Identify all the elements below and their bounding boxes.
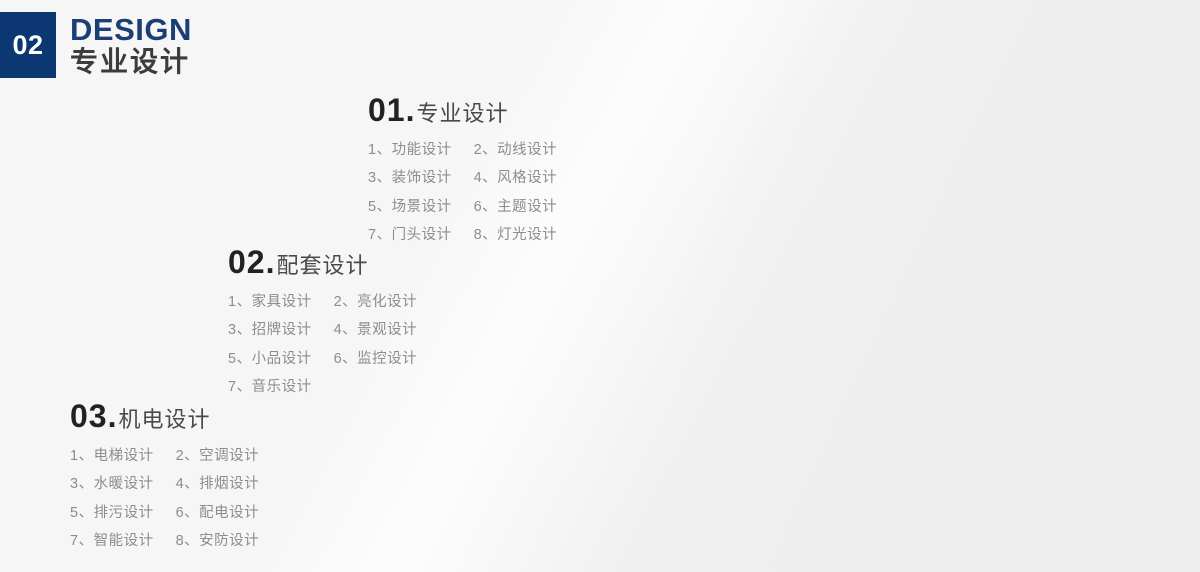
header-title-group: DESIGN 专业设计 xyxy=(70,14,192,76)
list-item: 3、装饰设计 xyxy=(368,167,474,189)
block-01-item-list: 1、功能设计2、动线设计3、装饰设计4、风格设计5、场景设计6、主题设计7、门头… xyxy=(368,139,557,247)
content-block-03: 03 . 机电设计 1、电梯设计2、空调设计3、水暖设计4、排烟设计5、排污设计… xyxy=(70,398,259,553)
list-item: 7、音乐设计 xyxy=(228,376,334,398)
block-01-separator: . xyxy=(406,92,415,129)
list-item: 6、配电设计 xyxy=(176,502,260,524)
list-item: 6、主题设计 xyxy=(474,196,558,218)
content-block-02: 02 . 配套设计 1、家具设计2、亮化设计3、招牌设计4、景观设计5、小品设计… xyxy=(228,244,417,399)
list-item: 3、水暖设计 xyxy=(70,473,176,495)
list-item: 8、安防设计 xyxy=(176,530,260,552)
slide-header: 02 DESIGN 专业设计 xyxy=(0,12,192,78)
list-item: 4、排烟设计 xyxy=(176,473,260,495)
list-item: 1、功能设计 xyxy=(368,139,474,161)
block-01-number: 01 xyxy=(368,92,406,129)
header-title-english: DESIGN xyxy=(70,14,192,45)
block-01-name: 专业设计 xyxy=(416,96,508,128)
block-02-separator: . xyxy=(266,244,275,281)
slide-canvas: 02 DESIGN 专业设计 01 . 专业设计 1、功能设计2、动线设计3、装… xyxy=(0,0,1200,572)
block-01-heading: 01 . 专业设计 xyxy=(368,92,557,129)
list-item: 2、亮化设计 xyxy=(334,291,418,313)
block-02-heading: 02 . 配套设计 xyxy=(228,244,417,281)
list-item: 5、小品设计 xyxy=(228,348,334,370)
block-02-number: 02 xyxy=(228,244,266,281)
list-item: 6、监控设计 xyxy=(334,348,418,370)
section-number-badge: 02 xyxy=(0,12,56,78)
content-block-01: 01 . 专业设计 1、功能设计2、动线设计3、装饰设计4、风格设计5、场景设计… xyxy=(368,92,557,247)
list-item: 2、空调设计 xyxy=(176,445,260,467)
block-03-separator: . xyxy=(108,398,117,435)
block-03-number: 03 xyxy=(70,398,108,435)
list-item: 5、场景设计 xyxy=(368,196,474,218)
list-item: 5、排污设计 xyxy=(70,502,176,524)
list-item: 4、风格设计 xyxy=(474,167,558,189)
list-item: 7、智能设计 xyxy=(70,530,176,552)
block-02-item-list: 1、家具设计2、亮化设计3、招牌设计4、景观设计5、小品设计6、监控设计7、音乐… xyxy=(228,291,417,399)
list-item: 4、景观设计 xyxy=(334,319,418,341)
block-03-name: 机电设计 xyxy=(118,402,210,434)
list-item: 2、动线设计 xyxy=(474,139,558,161)
list-item: 1、电梯设计 xyxy=(70,445,176,467)
list-item: 1、家具设计 xyxy=(228,291,334,313)
list-item: 8、灯光设计 xyxy=(474,224,558,246)
block-02-name: 配套设计 xyxy=(276,248,368,280)
block-03-item-list: 1、电梯设计2、空调设计3、水暖设计4、排烟设计5、排污设计6、配电设计7、智能… xyxy=(70,445,259,553)
list-item: 3、招牌设计 xyxy=(228,319,334,341)
header-title-chinese: 专业设计 xyxy=(70,48,192,76)
block-03-heading: 03 . 机电设计 xyxy=(70,398,259,435)
